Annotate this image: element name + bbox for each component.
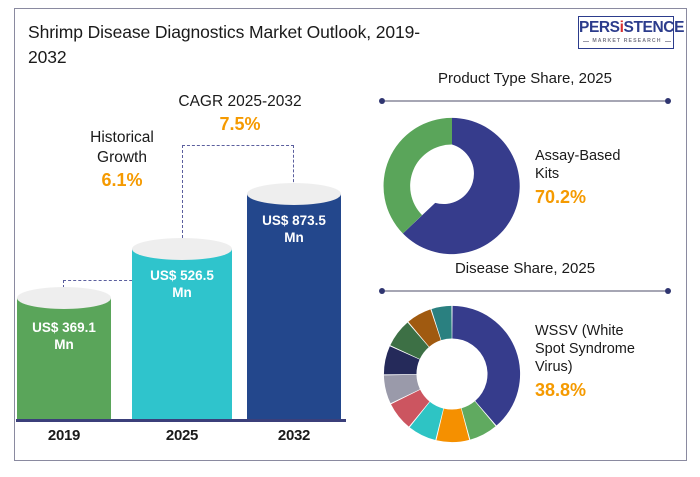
cagr-bracket-right [293, 145, 294, 187]
donut-slice-group [384, 306, 520, 442]
divider-dot-right [665, 288, 671, 294]
divider-line [385, 100, 665, 102]
disease-share-divider [379, 288, 671, 294]
disease-share-panel: Disease Share, 2025 WSSV (White Spot Syn… [365, 252, 685, 457]
divider-dot-right [665, 98, 671, 104]
product-type-divider [379, 98, 671, 104]
historical-growth-value: 6.1% [62, 169, 182, 192]
x-tick-2019: 2019 [17, 427, 111, 444]
logo-wordmark: PERSiSTENCE [579, 19, 675, 37]
bar-2025: US$ 526.5 Mn [132, 238, 232, 420]
logo-rule-left [583, 41, 589, 42]
cagr-caption: CAGR 2025-2032 [175, 92, 305, 112]
product-type-donut-chart [378, 112, 526, 260]
bar-2032-cap [247, 183, 341, 205]
market-outlook-bar-chart: Historical Growth 6.1% CAGR 2025-2032 7.… [0, 0, 360, 477]
historical-growth-annotation: Historical Growth 6.1% [62, 128, 182, 192]
donut-slice-wssv-white-spot-syndrome-virus [452, 306, 520, 426]
bar-2032-label: US$ 873.5 Mn [247, 212, 341, 246]
disease-share-legend-value: 38.8% [535, 378, 685, 402]
bar-2025-label: US$ 526.5 Mn [132, 267, 232, 301]
logo-rule-right [665, 41, 671, 42]
divider-line [385, 290, 665, 292]
persistence-logo: PERSiSTENCE MARKET RESEARCH [578, 16, 674, 49]
bar-2019-label: US$ 369.1 Mn [17, 319, 111, 353]
logo-subtitle: MARKET RESEARCH [592, 38, 661, 44]
x-tick-2025: 2025 [132, 427, 232, 444]
logo-word-part1: PERS [579, 19, 620, 36]
disease-share-legend: WSSV (White Spot Syndrome Virus) 38.8% [535, 322, 685, 402]
disease-share-donut-chart [378, 300, 526, 448]
infographic-card: Shrimp Disease Diagnostics Market Outloo… [0, 0, 700, 477]
logo-word-part2: STENCE [624, 19, 684, 36]
cagr-value: 7.5% [175, 113, 305, 136]
product-type-legend: Assay-Based Kits 70.2% [535, 147, 680, 209]
bar-2025-cap [132, 238, 232, 260]
cagr-bracket-top [182, 145, 294, 146]
x-axis-line [16, 419, 346, 422]
product-type-share-panel: Product Type Share, 2025 Assay-Based Kit… [365, 62, 685, 262]
x-tick-2032: 2032 [247, 427, 341, 444]
disease-share-panel-title: Disease Share, 2025 [365, 260, 685, 277]
cagr-bracket-left [182, 145, 183, 243]
product-type-panel-title: Product Type Share, 2025 [365, 70, 685, 87]
disease-share-donut-svg [378, 300, 526, 448]
disease-share-legend-name: WSSV (White Spot Syndrome Virus) [535, 322, 685, 376]
bar-2032: US$ 873.5 Mn [247, 183, 341, 420]
product-type-legend-value: 70.2% [535, 185, 680, 209]
product-type-legend-name: Assay-Based Kits [535, 147, 680, 183]
bar-2019: US$ 369.1 Mn [17, 287, 111, 420]
bar-2019-cap [17, 287, 111, 309]
logo-subtitle-row: MARKET RESEARCH [583, 38, 671, 44]
product-type-donut-svg [378, 112, 526, 260]
cagr-annotation: CAGR 2025-2032 7.5% [175, 92, 305, 136]
bar-2019-body [17, 298, 111, 420]
historical-growth-caption: Historical Growth [62, 128, 182, 168]
